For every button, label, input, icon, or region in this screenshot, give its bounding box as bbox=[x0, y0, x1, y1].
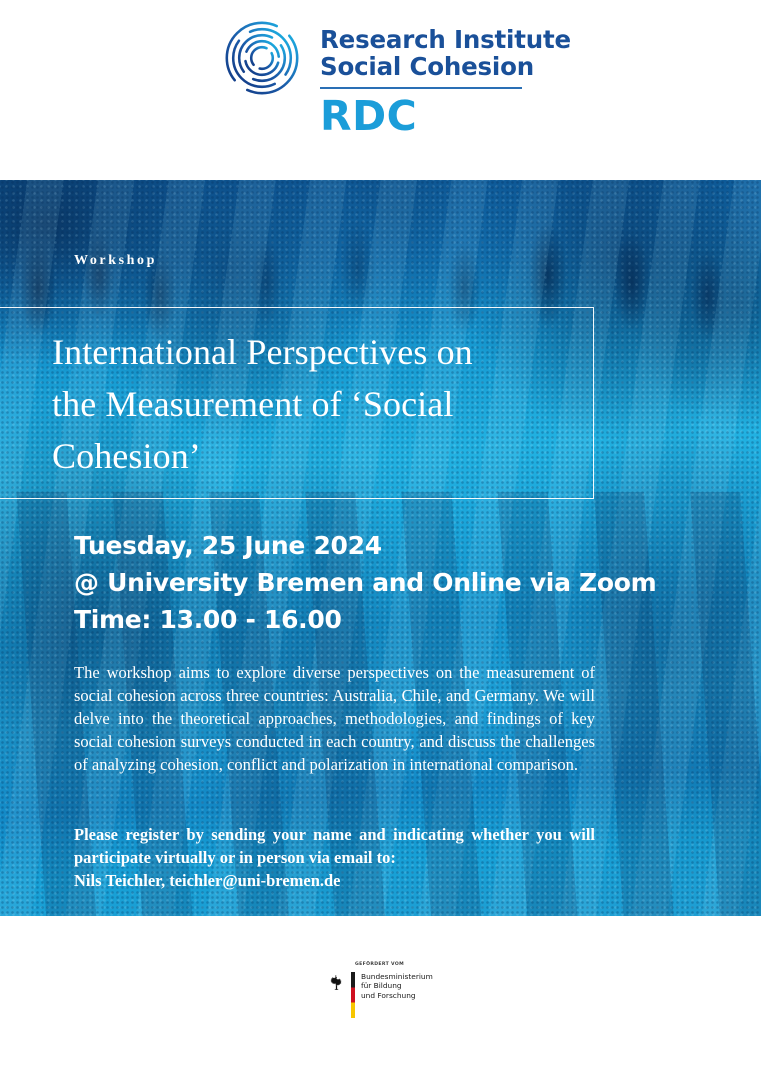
description-paragraph: The workshop aims to explore diverse per… bbox=[74, 661, 595, 776]
registration-contact[interactable]: Nils Teichler, teichler@uni-bremen.de bbox=[74, 869, 595, 892]
logo-divider bbox=[320, 87, 522, 89]
funder-name-line3: und Forschung bbox=[361, 991, 433, 1000]
event-location: @ University Bremen and Online via Zoom bbox=[74, 564, 694, 601]
funder-name-line2: für Bildung bbox=[361, 981, 433, 990]
registration-instruction: Please register by sending your name and… bbox=[74, 823, 595, 869]
page-title: International Perspectives on the Measur… bbox=[52, 326, 592, 482]
registration-block: Please register by sending your name and… bbox=[74, 823, 595, 892]
title-line-3: Cohesion’ bbox=[52, 436, 201, 476]
concentric-broken-circles-logo-icon bbox=[222, 18, 302, 98]
institute-name-line2: Social Cohesion bbox=[320, 53, 571, 80]
hero-photo-grain-layer bbox=[0, 130, 761, 916]
rdc-logo: Research Institute Social Cohesion RDC bbox=[222, 14, 571, 139]
rdc-logo-text: Research Institute Social Cohesion RDC bbox=[320, 14, 571, 139]
bmbf-funding-logo: GEFÖRDERT VOM Bundesministerium für Bild… bbox=[327, 962, 439, 1018]
event-date: Tuesday, 25 June 2024 bbox=[74, 527, 694, 564]
workshop-kicker: Workshop bbox=[74, 253, 157, 269]
german-federal-eagle-icon bbox=[327, 973, 346, 992]
poster-page: Research Institute Social Cohesion RDC W… bbox=[0, 0, 761, 1076]
poster-footer: GEFÖRDERT VOM Bundesministerium für Bild… bbox=[0, 916, 761, 1076]
title-line-1: International Perspectives on bbox=[52, 332, 473, 372]
rdc-acronym: RDC bbox=[320, 93, 571, 139]
german-flag-bar-icon bbox=[351, 972, 355, 1018]
funder-name-line1: Bundesministerium bbox=[361, 972, 433, 981]
funder-kicker: GEFÖRDERT VOM bbox=[355, 962, 439, 967]
event-details: Tuesday, 25 June 2024 @ University Breme… bbox=[74, 527, 694, 638]
event-time: Time: 13.00 - 16.00 bbox=[74, 601, 694, 638]
institute-name-line1: Research Institute bbox=[320, 26, 571, 53]
poster-header: Research Institute Social Cohesion RDC bbox=[0, 0, 761, 180]
title-line-2: the Measurement of ‘Social bbox=[52, 384, 453, 424]
funder-name: Bundesministerium für Bildung und Forsch… bbox=[361, 972, 433, 1000]
bmbf-logo-row: Bundesministerium für Bildung und Forsch… bbox=[327, 972, 439, 1018]
hero-photo bbox=[0, 130, 761, 916]
